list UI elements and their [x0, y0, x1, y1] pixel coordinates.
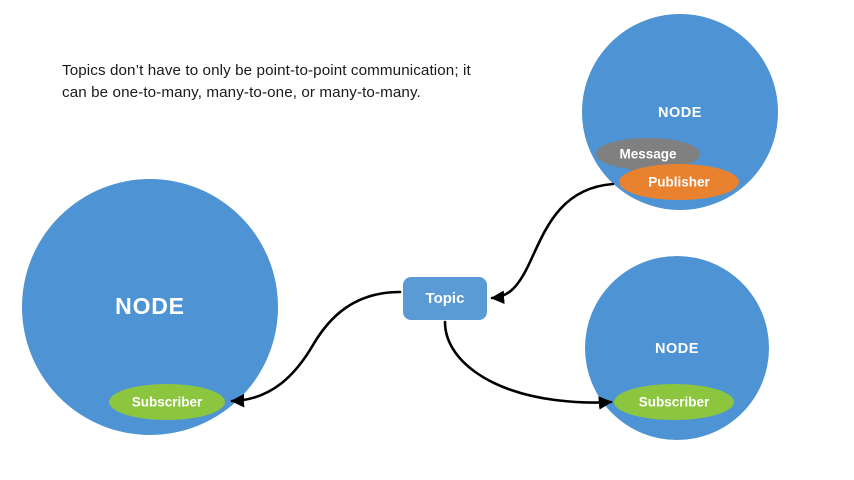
connector-publisher-to-topic — [492, 184, 613, 298]
node-left-label: NODE — [115, 293, 185, 319]
node-bottom-right-label: NODE — [655, 341, 699, 357]
publisher-label: Publisher — [648, 175, 710, 190]
message-callout-label: Message — [619, 147, 677, 162]
topic-box-label: Topic — [426, 290, 465, 307]
topic-box[interactable]: Topic — [403, 277, 487, 320]
slide-canvas: Topics don’t have to only be point-to-po… — [0, 0, 854, 480]
node-bottom-right[interactable]: NODE Subscriber — [585, 256, 769, 440]
subscriber-bottom-right-label: Subscriber — [639, 395, 710, 410]
node-top-right-label: NODE — [658, 105, 702, 121]
subscriber-left[interactable]: Subscriber — [109, 384, 225, 420]
publisher-top-right[interactable]: Publisher — [619, 164, 739, 200]
subscriber-left-label: Subscriber — [132, 395, 203, 410]
subscriber-bottom-right[interactable]: Subscriber — [614, 384, 734, 420]
diagram-canvas: NODE Subscriber NODE Message Publisher — [0, 0, 854, 480]
node-left[interactable]: NODE Subscriber — [22, 179, 278, 435]
node-top-right[interactable]: NODE Message Publisher — [582, 14, 778, 210]
